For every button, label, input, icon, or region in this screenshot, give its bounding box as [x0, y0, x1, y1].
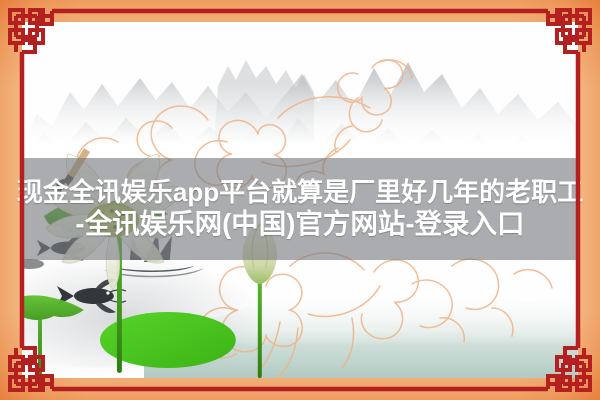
lotus-leaf-secondary-icon: [22, 295, 84, 376]
title-line-1: 现金全讯娱乐app平台就算是厂里好几年的老职工: [17, 178, 583, 207]
title-line-2: -全讯娱乐网(中国)官方网站-登录入口: [75, 209, 524, 240]
title-text-group: 现金全讯娱乐app平台就算是厂里好几年的老职工 -全讯娱乐网(中国)官方网站-登…: [0, 158, 600, 260]
banner-stage: 现金全讯娱乐app平台就算是厂里好几年的老职工 -全讯娱乐网(中国)官方网站-登…: [0, 0, 600, 400]
